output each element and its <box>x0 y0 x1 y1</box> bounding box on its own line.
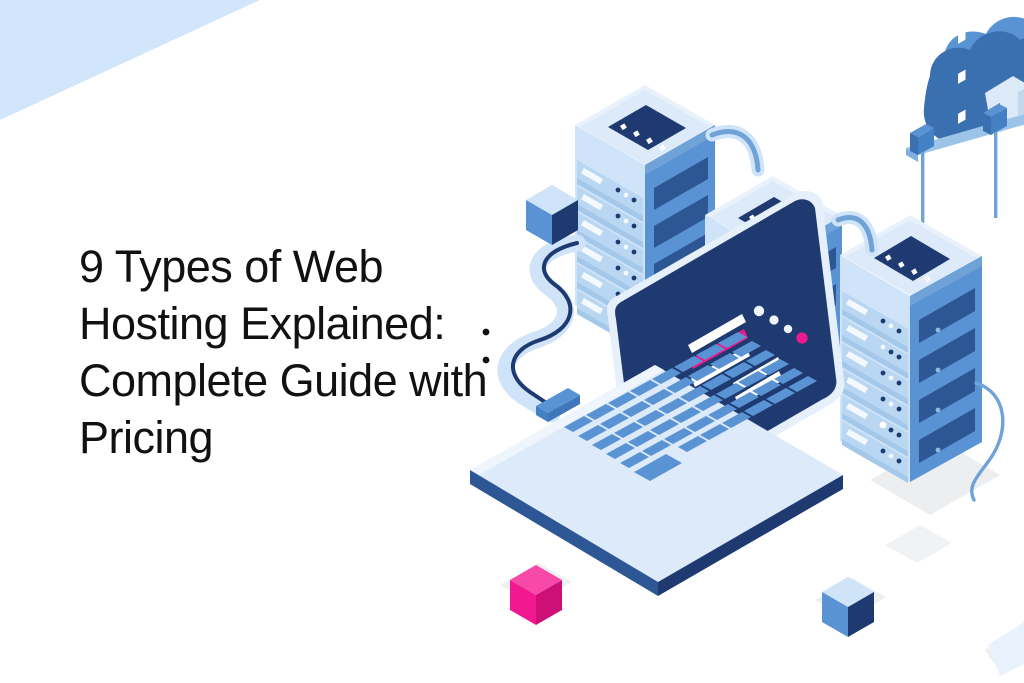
bottom-right-wedge <box>988 622 1024 676</box>
zigzag-cable <box>483 243 577 414</box>
hero-banner: 9 Types of Web Hosting Explained: Comple… <box>0 0 1024 683</box>
page-title: 9 Types of Web Hosting Explained: Comple… <box>79 238 489 466</box>
hero-illustration <box>440 0 1024 683</box>
corner-accent-triangle <box>0 0 260 120</box>
